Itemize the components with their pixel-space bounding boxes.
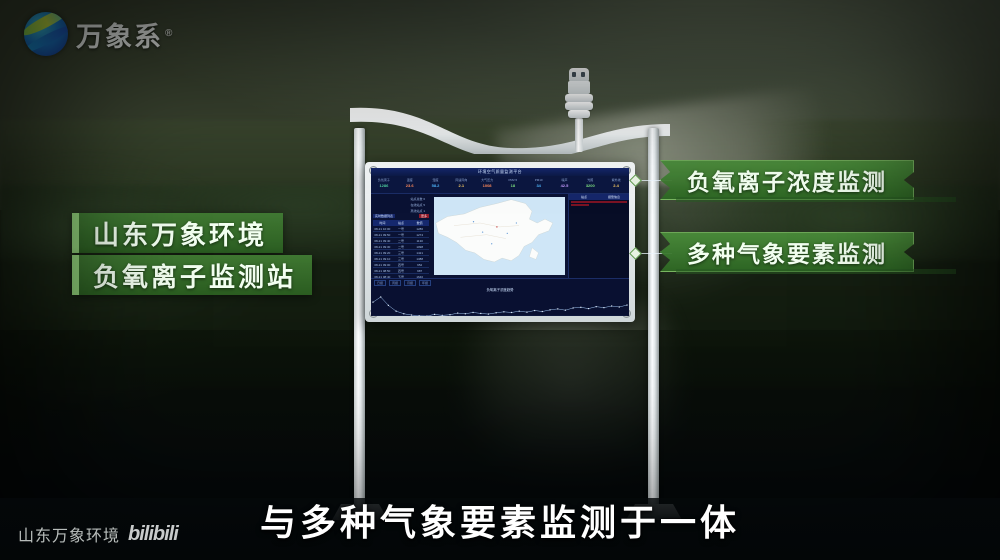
alert-row	[571, 201, 627, 203]
kpi-card[interactable]: 风速风向2.1	[448, 176, 474, 193]
table-cell: 1130	[410, 238, 429, 243]
trend-point	[503, 311, 504, 312]
dashboard-body: 站点总数 6在线站点 5离线站点 1 实时数据列表 更多 时间站点数值 08-2…	[371, 194, 629, 278]
sensor-shield-1	[565, 94, 593, 102]
sensor-shield-3	[568, 110, 590, 118]
trend-point	[480, 313, 481, 314]
trend-point	[534, 310, 535, 311]
trend-point	[457, 313, 458, 314]
trend-chart-panel[interactable]: 日报周报月报年报 负氧离子浓度趋势	[371, 278, 629, 316]
kpi-value: 18	[500, 183, 526, 189]
alert-row	[571, 204, 589, 206]
sensor-port-right	[581, 72, 585, 77]
kpi-card[interactable]: PM1034	[526, 176, 552, 193]
trend-point	[565, 310, 566, 311]
registered-mark: ®	[165, 28, 174, 39]
banner-left-1-label: 山东万象环境	[93, 215, 267, 252]
table-cell: 08-21 10:00	[373, 226, 392, 231]
trend-point	[549, 309, 550, 310]
kpi-value: 3200	[577, 183, 603, 189]
trend-point	[472, 312, 473, 313]
kpi-card[interactable]: 光照3200	[577, 176, 603, 193]
trend-point	[434, 314, 435, 315]
trend-point	[488, 313, 489, 314]
dashboard-title: 环境空气质量监测平台	[371, 169, 629, 175]
map-panel[interactable]	[431, 194, 568, 278]
subtitle-text: 与多种气象要素监测于一体	[0, 494, 1000, 546]
table-cell: 1274	[410, 232, 429, 237]
trend-point	[526, 312, 527, 313]
table-cell: 1286	[410, 226, 429, 231]
trend-point	[442, 315, 443, 316]
trend-point	[596, 306, 597, 307]
video-frame: 万象系®	[0, 0, 1000, 560]
kpi-card[interactable]: 大气压力1008	[474, 176, 500, 193]
banner-left-1: 山东万象环境	[72, 213, 283, 253]
table-cell: 四号	[392, 268, 411, 273]
kpi-value: 1008	[474, 183, 500, 189]
sensor-cap	[569, 68, 589, 81]
left-data-column: 站点总数 6在线站点 5离线站点 1 实时数据列表 更多 时间站点数值 08-2…	[371, 194, 431, 278]
kpi-value: 23.6	[397, 183, 423, 189]
table-cell: 08-21 09:20	[373, 250, 392, 255]
kpi-value: 2.4	[603, 183, 629, 189]
table-cell: 08-21 09:30	[373, 244, 392, 249]
alert-column-header: 站点	[569, 194, 599, 200]
table-cell: 二号	[392, 238, 411, 243]
trend-point	[580, 307, 581, 308]
kpi-value: 42.5	[552, 183, 578, 189]
kpi-value: 2.1	[448, 183, 474, 189]
kpi-card[interactable]: 噪声42.5	[552, 176, 578, 193]
table-cell: 1098	[410, 244, 429, 249]
alert-column-header: 报警信息	[599, 194, 629, 200]
sensor-shield-2	[565, 102, 593, 110]
trend-point	[465, 313, 466, 314]
trend-point	[411, 314, 412, 315]
map-svg	[434, 197, 565, 275]
banner-left-2: 负氧离子监测站	[72, 255, 312, 295]
bottom-bar: 山东万象环境 bilibili 与多种气象要素监测于一体	[0, 498, 1000, 560]
ultrasonic-weather-sensor-icon	[562, 66, 596, 144]
kpi-value: 1286	[371, 183, 397, 189]
right-post	[648, 128, 659, 510]
curved-arm	[330, 102, 690, 154]
chart-tab[interactable]: 年报	[419, 280, 431, 286]
table-cell: 一号	[392, 232, 411, 237]
trend-point	[372, 302, 373, 303]
banner-right-1: 负氧离子浓度监测	[660, 160, 914, 200]
table-cell: 08-21 09:40	[373, 238, 392, 243]
table-more-badge[interactable]: 更多	[419, 214, 429, 218]
kpi-strip: 负氧离子1286温度23.6湿度58.2风速风向2.1大气压力1008PM2.5…	[371, 176, 629, 194]
trend-line-chart	[371, 292, 629, 316]
trend-point	[403, 313, 404, 314]
kpi-card[interactable]: 湿度58.2	[423, 176, 449, 193]
china-map[interactable]	[434, 197, 565, 275]
trend-point	[588, 308, 589, 309]
table-cell: 08-21 09:00	[373, 262, 392, 267]
trend-point	[619, 306, 620, 307]
table-cell: 三号	[392, 256, 411, 261]
table-cell: 一号	[392, 226, 411, 231]
brand-name: 万象系	[76, 22, 163, 52]
trend-point	[573, 307, 574, 308]
banner-right-1-label: 负氧离子浓度监测	[687, 163, 887, 197]
banner-right-1-shadow	[676, 197, 956, 202]
left-post	[354, 128, 365, 510]
table-cell: 1421	[410, 250, 429, 255]
kpi-card[interactable]: 温度23.6	[397, 176, 423, 193]
alert-panel[interactable]: 站点报警信息	[568, 194, 629, 278]
trend-point	[611, 305, 612, 306]
table-cell: 952	[410, 262, 429, 267]
dashboard-screen[interactable]: 环境空气质量监测平台 负氧离子1286温度23.6湿度58.2风速风向2.1大气…	[371, 168, 629, 316]
table-cell: 08-21 08:50	[373, 268, 392, 273]
table-cell: 四号	[392, 262, 411, 267]
globe-swirl-icon	[24, 12, 68, 56]
dashboard-header: 环境空气质量监测平台	[371, 168, 629, 176]
trend-point	[395, 311, 396, 312]
trend-point	[496, 312, 497, 313]
table-cell: 987	[410, 268, 429, 273]
chart-tabs[interactable]: 日报周报月报年报	[371, 279, 629, 287]
chart-tab[interactable]: 周报	[389, 280, 401, 286]
mini-stats: 站点总数 6在线站点 5离线站点 1	[373, 196, 429, 214]
kpi-card[interactable]: 负氧离子1286	[371, 176, 397, 193]
chart-tab[interactable]: 日报	[374, 280, 386, 286]
brand-logo: 万象系®	[24, 12, 174, 56]
table-cell: 08-21 09:10	[373, 256, 392, 261]
brand-logo-text: 万象系®	[76, 15, 174, 54]
sensor-port-left	[572, 72, 576, 77]
table-cell: 1388	[410, 256, 429, 261]
kpi-card[interactable]: PM2.518	[500, 176, 526, 193]
trend-point	[380, 296, 381, 297]
banner-right-2-label: 多种气象要素监测	[687, 235, 887, 269]
alert-header: 站点报警信息	[569, 194, 629, 200]
kpi-value: 58.2	[423, 183, 449, 189]
trend-point	[603, 307, 604, 308]
trend-point	[626, 304, 627, 305]
banner-right-2: 多种气象要素监测	[660, 232, 914, 272]
banner-right-2-shadow	[676, 269, 956, 274]
trend-point	[511, 312, 512, 313]
trend-point	[388, 305, 389, 306]
trend-point	[519, 311, 520, 312]
kpi-value: 34	[526, 183, 552, 189]
table-cell: 08-21 09:50	[373, 232, 392, 237]
table-cell: 三号	[392, 250, 411, 255]
chart-tab[interactable]: 月报	[404, 280, 416, 286]
trend-point	[449, 314, 450, 315]
table-cell: 二号	[392, 244, 411, 249]
trend-point	[542, 311, 543, 312]
trend-line	[373, 297, 627, 316]
trend-point	[557, 308, 558, 309]
table-caption: 实时数据列表	[373, 214, 395, 218]
banner-left-2-label: 负氧离子监测站	[93, 257, 296, 294]
kpi-card[interactable]: 紫外线2.4	[603, 176, 629, 193]
sensor-midsection	[568, 81, 590, 94]
sensor-body	[565, 68, 593, 124]
